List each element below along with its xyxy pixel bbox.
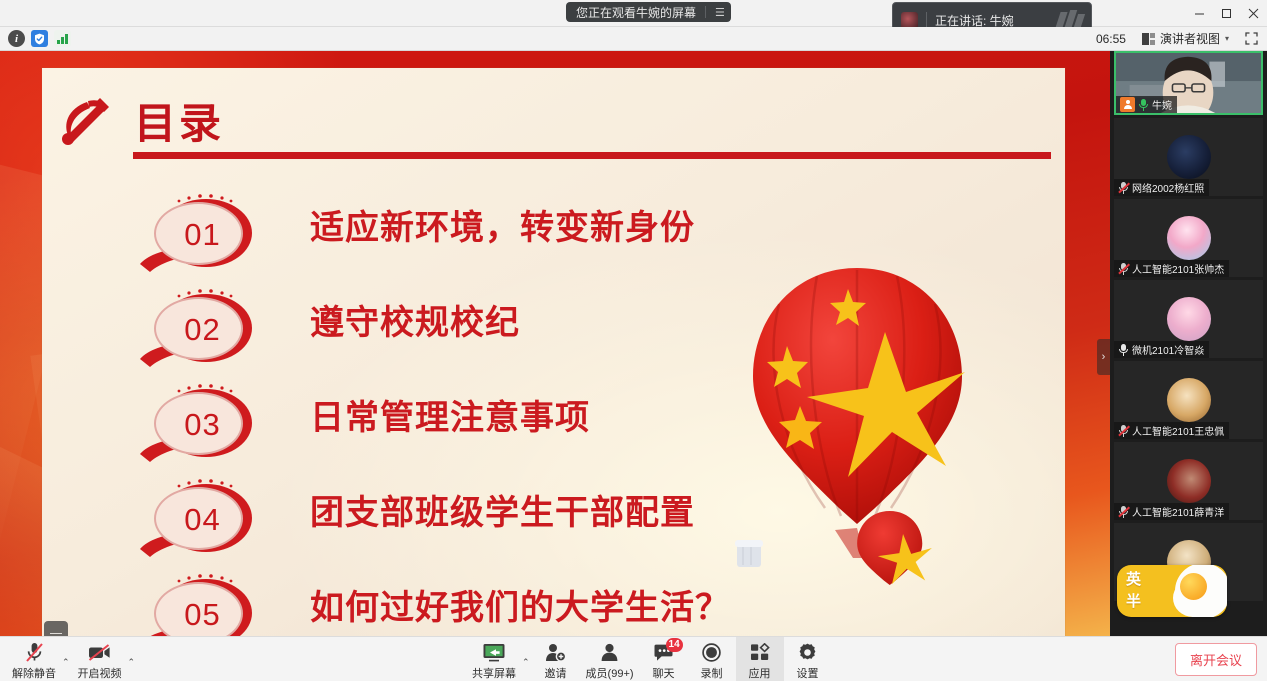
active-speaker-label: 正在讲话: 牛婉 [935, 12, 1014, 29]
signal-strength-icon[interactable] [54, 30, 71, 47]
item-number-badge: 02 [154, 294, 262, 366]
record-label: 录制 [701, 665, 723, 681]
item-number: 05 [154, 579, 249, 636]
status-icons: i [0, 30, 71, 47]
hot-air-balloon-icon [707, 258, 1007, 588]
sticker-text: 英半 [1126, 569, 1151, 613]
close-button[interactable] [1240, 0, 1267, 27]
meeting-timer: 06:55 [1092, 32, 1130, 46]
toolbar-left-group: 解除静音 ⌃ 开启视频 ⌃ [6, 637, 137, 681]
participant-rail[interactable]: 牛婉 网络2002杨红照 人工智能2101张帅杰 [1110, 51, 1267, 636]
participant-tile[interactable]: 牛婉 [1114, 51, 1263, 115]
mic-muted-icon [1118, 263, 1129, 275]
mic-muted-icon [1118, 506, 1129, 518]
divider [926, 12, 927, 28]
stars-icon [171, 477, 241, 489]
participant-tile[interactable]: 人工智能2101张帅杰 [1114, 199, 1263, 277]
status-bar: i 06:55 演讲者视图 ▾ [0, 27, 1267, 51]
more-options-icon[interactable]: ☰ [715, 6, 725, 19]
participant-tile[interactable]: 人工智能2101王忠佩 [1114, 361, 1263, 439]
item-label: 适应新环境，转变新身份 [310, 200, 695, 249]
share-screen-label: 共享屏幕 [472, 665, 516, 681]
participants-button[interactable]: 成员(99+) [580, 637, 640, 681]
chat-unread-badge: 14 [666, 638, 683, 652]
invite-button[interactable]: 邀请 [532, 637, 580, 681]
meeting-window: 您正在观看牛婉的屏幕 ☰ 正在讲话: 牛婉 i [0, 0, 1267, 681]
camera-options-chevron-icon[interactable]: ⌃ [128, 657, 138, 681]
viewing-screen-notice: 您正在观看牛婉的屏幕 ☰ [566, 2, 731, 22]
participant-name: 微机2101冷智焱 [1132, 342, 1204, 357]
avatar [1167, 297, 1211, 341]
item-number: 01 [154, 199, 249, 267]
slide-header: 目录 [59, 90, 1049, 162]
egg-yolk-shape [1180, 573, 1207, 600]
participants-icon [600, 642, 619, 663]
start-video-button[interactable]: 开启视频 [72, 637, 128, 681]
meeting-toolbar: 解除静音 ⌃ 开启视频 ⌃ [0, 636, 1267, 681]
chat-label: 聊天 [653, 665, 675, 681]
avatar [1167, 378, 1211, 422]
item-label: 遵守校规校纪 [310, 295, 520, 344]
fried-egg-sticker[interactable]: 英半 [1117, 565, 1227, 617]
record-button[interactable]: 录制 [688, 637, 736, 681]
share-screen-icon [482, 642, 506, 663]
info-icon[interactable]: i [8, 30, 25, 47]
leave-meeting-button[interactable]: 离开会议 [1175, 643, 1257, 676]
host-badge-icon [1120, 97, 1135, 112]
invite-icon [545, 642, 566, 663]
speaker-view-icon [1142, 33, 1155, 45]
unmute-label: 解除静音 [12, 665, 56, 681]
participant-name-bar: 微机2101冷智焱 [1114, 341, 1209, 358]
toolbar-right-group: 离开会议 [1175, 637, 1257, 681]
fullscreen-icon[interactable] [1241, 30, 1261, 48]
shield-icon[interactable] [31, 30, 48, 47]
divider [705, 6, 706, 18]
status-right-group: 06:55 演讲者视图 ▾ [1092, 28, 1267, 49]
chat-button[interactable]: 14 聊天 [640, 637, 688, 681]
item-number-badge: 03 [154, 389, 262, 461]
viewing-screen-text: 您正在观看牛婉的屏幕 [576, 4, 696, 21]
view-mode-selector[interactable]: 演讲者视图 ▾ [1136, 28, 1235, 49]
participant-name: 人工智能2101薛青洋 [1132, 504, 1224, 519]
avatar [1167, 135, 1211, 179]
participant-tile[interactable]: 人工智能2101薛青洋 [1114, 442, 1263, 520]
annotation-menu-icon[interactable] [44, 621, 68, 636]
unmute-button[interactable]: 解除静音 [6, 637, 62, 681]
item-number-badge: 05 [154, 579, 262, 636]
title-underline [133, 152, 1051, 159]
participant-name: 人工智能2101张帅杰 [1132, 261, 1224, 276]
item-number-badge: 01 [154, 199, 262, 271]
record-icon [702, 642, 721, 663]
participant-name-bar: 网络2002杨红照 [1114, 179, 1209, 196]
apps-icon [750, 642, 770, 663]
shared-screen-stage[interactable]: 目录 [0, 51, 1110, 636]
participant-name: 网络2002杨红照 [1132, 180, 1204, 195]
window-controls [1186, 0, 1267, 27]
item-number: 02 [154, 294, 249, 362]
maximize-button[interactable] [1213, 0, 1240, 27]
stars-icon [171, 572, 241, 584]
mic-options-chevron-icon[interactable]: ⌃ [62, 657, 72, 681]
mic-muted-icon [1118, 182, 1129, 194]
participant-tile[interactable]: 网络2002杨红照 [1114, 118, 1263, 196]
settings-button[interactable]: 设置 [784, 637, 832, 681]
settings-label: 设置 [797, 665, 819, 681]
start-video-label: 开启视频 [78, 665, 122, 681]
camera-off-icon [88, 642, 111, 663]
page-title: 目录 [134, 90, 224, 151]
share-options-chevron-icon[interactable]: ⌃ [522, 657, 532, 681]
share-screen-button[interactable]: 共享屏幕 [466, 637, 522, 681]
settings-gear-icon [798, 642, 817, 663]
stars-icon [171, 287, 241, 299]
participant-name-bar: 人工智能2101王忠佩 [1114, 422, 1229, 439]
participants-label: 成员(99+) [586, 665, 634, 681]
mic-muted-icon [1118, 425, 1129, 437]
participant-name-bar: 人工智能2101薛青洋 [1114, 503, 1229, 520]
participant-name: 牛婉 [1152, 97, 1172, 112]
item-label: 日常管理注意事项 [310, 390, 590, 439]
mic-unmuted-icon [1118, 344, 1129, 356]
chevron-right-icon[interactable]: › [1097, 339, 1110, 375]
apps-button[interactable]: 应用 [736, 637, 784, 681]
toolbar-center-group: 共享屏幕 ⌃ 邀请 [466, 637, 832, 681]
item-label: 团支部班级学生干部配置 [310, 485, 695, 534]
participant-name-bar: 牛婉 [1116, 96, 1177, 113]
item-number: 03 [154, 389, 249, 457]
view-mode-label: 演讲者视图 [1160, 30, 1220, 47]
hammer-and-sickle-icon [59, 92, 117, 148]
participant-name: 人工智能2101王忠佩 [1132, 423, 1224, 438]
speaker-avatar-icon [901, 12, 918, 29]
avatar [1167, 216, 1211, 260]
stars-icon [171, 192, 241, 204]
item-number-badge: 04 [154, 484, 262, 556]
item-label: 如何过好我们的大学生活？ [310, 580, 730, 629]
stars-icon [171, 382, 241, 394]
apps-label: 应用 [749, 665, 771, 681]
presentation-slide: 目录 [42, 68, 1065, 636]
invite-label: 邀请 [545, 665, 567, 681]
participant-name-bar: 人工智能2101张帅杰 [1114, 260, 1229, 277]
avatar [1167, 459, 1211, 503]
chevron-down-icon: ▾ [1225, 34, 1229, 43]
participant-tile[interactable]: 微机2101冷智焱 [1114, 280, 1263, 358]
mic-unmuted-icon [1138, 99, 1149, 111]
mic-muted-icon [25, 642, 44, 663]
minimize-button[interactable] [1186, 0, 1213, 27]
item-number: 04 [154, 484, 249, 552]
